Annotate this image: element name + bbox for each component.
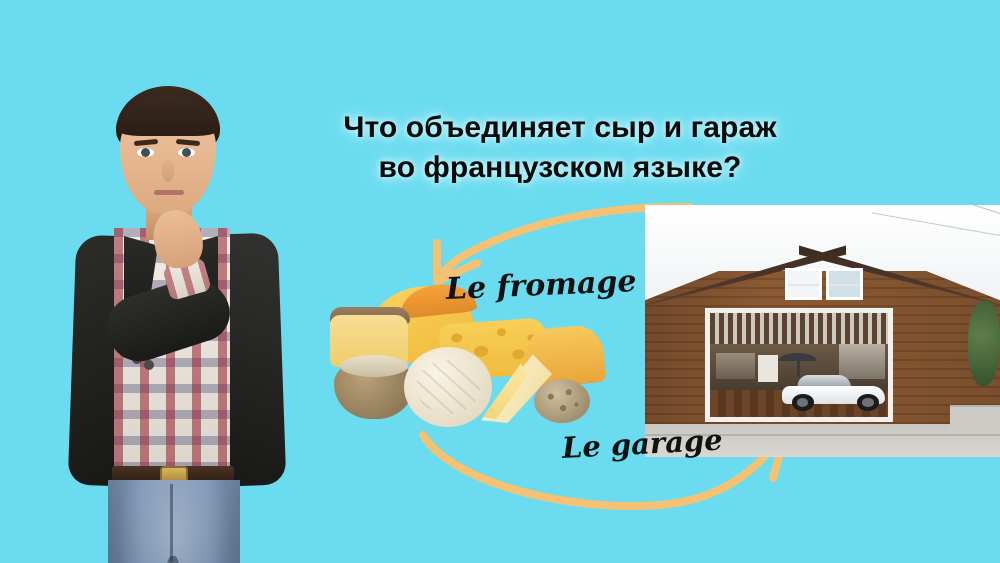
car-wheel-front [857,394,879,410]
mouth [154,190,184,195]
garage-photo [645,205,1000,457]
nose [162,160,174,182]
jeans-shading [108,480,240,563]
shrub [968,301,1000,387]
slide-title: Что объединяет сыр и гараж во французско… [300,108,820,188]
crottin-cheese [534,379,590,423]
open-garage-door [705,308,893,421]
label-le-garage: Le garage [561,423,723,465]
presenter-figure [58,86,298,563]
interior-door [758,355,778,382]
camembert-round [404,347,492,427]
jeans-fly [170,484,173,562]
label-le-fromage: Le fromage [445,264,637,307]
cheese-photo [330,285,605,430]
garage-shelf-left [716,353,755,380]
car-wheel-rear [792,394,814,410]
eye-right [178,148,195,157]
garage-shelf-right [839,344,885,379]
title-line-1: Что объединяет сыр и гараж [300,108,820,148]
title-line-2: во французском языке? [300,148,820,188]
goat-cheese-top [340,355,408,377]
gable-window-left [785,268,822,300]
white-sports-car [782,375,885,410]
gable-window-right [826,268,863,300]
garage-ceiling-joists [710,313,888,348]
gable-roof [645,245,1000,311]
slide-canvas: Что объединяет сыр и гараж во французско… [0,0,1000,563]
eye-left [137,148,154,157]
concrete-step [950,405,1000,432]
